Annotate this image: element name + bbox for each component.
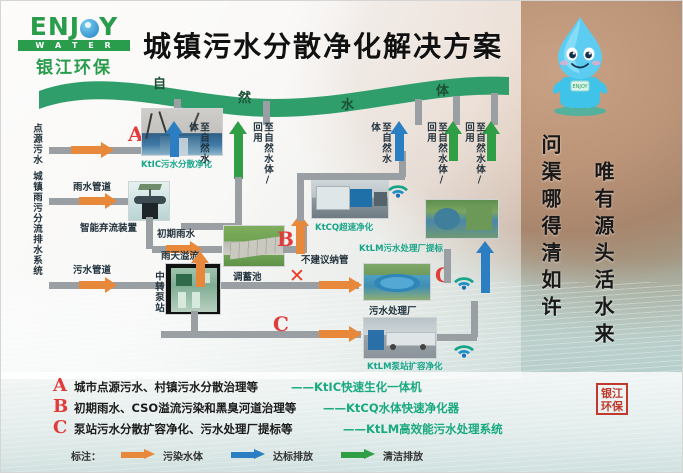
x-not-recommended: ✕: [289, 267, 305, 286]
legend-row-b: B 初期雨水、CSO溢流污染和黑臭河道治理等 ——KtCQ水体快速净化器: [53, 398, 613, 418]
legend-product-b: ——KtCQ水体快速净化器: [323, 400, 459, 416]
pipe-ktcq-out-riser: [297, 173, 304, 221]
caption-wwtp: 污水处理厂: [369, 303, 417, 317]
river-char-1: 然: [238, 87, 251, 106]
pipe-diverter-down: [146, 217, 153, 249]
pipe-wwtp-up: [444, 249, 451, 283]
legend-block: A 城市点源污水、村镇污水分散治理等 ——KtIC快速生化一体机 B 初期雨水、…: [53, 377, 613, 440]
label-not-recommended: 不建议纳管: [301, 255, 349, 267]
river-riser-3: [415, 99, 422, 125]
key-arrow-clean: [341, 449, 375, 460]
legend-key-label: 标注：: [71, 448, 101, 463]
key-label-compliant: 达标排放: [273, 448, 313, 463]
water-drop-icon: [80, 19, 99, 38]
arrow-c-pump-expansion: [319, 326, 363, 342]
arrow-b-to-nature: [390, 121, 409, 161]
wifi-icon-ktcq: [387, 181, 409, 198]
pipe-pump-exp-to-riser: [437, 334, 477, 341]
logo-enjoy-tail: Y: [99, 12, 118, 41]
label-not-recommended-text: 不建议纳管: [301, 255, 349, 266]
label-early-rain: 初期雨水: [157, 229, 195, 240]
arrow-point-source: [71, 142, 115, 158]
logo-wordmark-en: ENJY: [18, 14, 130, 39]
label-smart-diverter: 智能弃流装置: [80, 223, 137, 234]
caption-storage-tank: 调蓄池: [233, 269, 262, 283]
caption-ktlm-upgrade: KtLM污水处理厂提标: [359, 242, 443, 254]
pipe-reuse-riser-a: [235, 177, 242, 227]
logo-water-bar: W A T E R: [18, 40, 130, 51]
photo-ktlm-pump-expansion: [363, 317, 437, 359]
svg-text:ENJOY: ENJOY: [572, 84, 588, 90]
marker-c-diagram-2: C: [273, 312, 289, 336]
label-sewage-pipe: 污水管道: [73, 265, 111, 276]
pipe-pump-down: [191, 311, 198, 335]
arrow-sewage-pipe: [79, 277, 119, 293]
photo-ktlm-upgrade: [425, 199, 499, 239]
label-transfer-pump: 中转泵站: [153, 271, 164, 317]
label-to-nature-b: 至自然水体: [369, 122, 391, 170]
river-char-2: 水: [341, 94, 354, 113]
label-drainage-system: 城镇雨污分流排水系统: [31, 171, 42, 299]
legend-letter-b: B: [53, 396, 70, 417]
poem-line-2: 唯有源头活水来: [589, 161, 618, 350]
legend-row-a: A 城市点源污水、村镇污水分散治理等 ——KtIC快速生化一体机: [53, 377, 613, 397]
legend-text-c: 泵站污水分散扩容净化、污水处理厂提标等: [74, 421, 293, 437]
poem-line-1: 问渠哪得清如许: [536, 134, 565, 323]
water-droplet-mascot: ENJOY: [532, 9, 628, 117]
infographic-poster: ENJY W A T E R 银江环保 城镇污水分散净化解决方案 ENJOY 自: [0, 0, 683, 473]
wifi-icon-pump-expansion: [453, 341, 475, 358]
key-label-polluted: 污染水体: [163, 448, 203, 463]
legend-text-a: 城市点源污水、村镇污水分散治理等: [74, 379, 258, 395]
label-to-nature-reuse-a: 至自然水体/回用: [251, 122, 273, 194]
photo-ktcq-unit: [311, 179, 389, 219]
caption-ktcq: KtCQ超速净化: [315, 221, 373, 233]
label-to-nature-a: 至自然水体: [187, 122, 209, 170]
pipe-ktcq-top: [297, 173, 405, 180]
wifi-icon-wwtp: [453, 273, 475, 290]
legend-text-b: 初期雨水、CSO溢流污染和黑臭河道治理等: [74, 400, 296, 416]
legend-product-a: ——KtIC快速生化一体机: [291, 379, 422, 395]
key-arrow-compliant: [231, 449, 265, 460]
arrow-pump-to-wwtp: [319, 277, 363, 293]
label-point-source: 点源污水: [31, 123, 42, 169]
arrow-c-upgrade: [476, 241, 495, 293]
photo-smart-diverter: [128, 181, 170, 221]
legend-letter-c: C: [53, 417, 70, 438]
arrow-a-to-nature-reuse: [229, 121, 248, 179]
pipe-pump-exp-out: [471, 301, 478, 337]
arrow-rain-pipe: [79, 193, 119, 209]
label-to-nature-reuse-c1: 至自然水体/回用: [425, 122, 447, 194]
key-label-clean: 清洁排放: [383, 448, 423, 463]
legend-row-c: C 泵站污水分散扩容净化、污水处理厂提标等 ——KtLM高效能污水处理系统: [53, 419, 613, 439]
legend-product-c: ——KtLM高效能污水处理系统: [343, 421, 503, 437]
legend-key-row: 标注： 污染水体 达标排放 清洁排放: [71, 445, 491, 463]
label-rain-pipe: 雨水管道: [73, 182, 111, 193]
company-seal: 银江环保: [596, 383, 628, 415]
caption-ktlm-pump: KtLM泵站扩容净化: [367, 360, 443, 372]
river-char-3: 体: [436, 80, 449, 99]
logo-enjoy-text: ENJ: [30, 12, 80, 41]
key-arrow-polluted: [121, 449, 155, 460]
label-to-nature-reuse-c2: 至自然水体/回用: [463, 122, 485, 194]
photo-storage-tank: [223, 225, 285, 267]
river-char-0: 自: [153, 73, 166, 92]
arrow-a-to-nature: [165, 121, 184, 157]
page-title: 城镇污水分散净化解决方案: [143, 25, 503, 65]
photo-wwtp: [363, 263, 431, 301]
arrow-rain-overflow: [191, 251, 210, 287]
legend-letter-a: A: [53, 375, 70, 396]
